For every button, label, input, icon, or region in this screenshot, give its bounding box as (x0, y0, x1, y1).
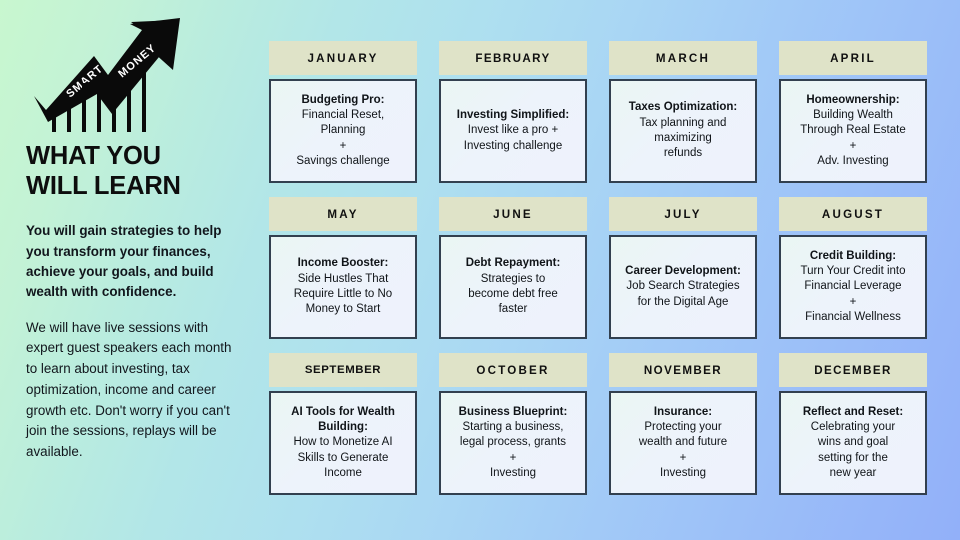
month-header-september: SEPTEMBER (269, 353, 417, 387)
month-card[interactable]: JULYCareer Development:Job Search Strate… (609, 197, 757, 339)
month-topic-plus: + (510, 452, 517, 464)
month-topic-line: Savings challenge (296, 155, 389, 167)
month-topic-line: Protecting your (644, 421, 721, 433)
month-topic-line: Planning (321, 124, 366, 136)
month-topic-line: wins and goal (818, 436, 888, 448)
month-topic-title: Reflect and Reset: (803, 406, 903, 418)
month-topic: Investing Simplified: Invest like a pro … (448, 108, 578, 154)
page-title-line-2: WILL LEARN (26, 172, 181, 200)
month-header-may: MAY (269, 197, 417, 231)
month-topic-line: Skills to Generate (298, 452, 389, 464)
month-topic-line: Financial Reset, (302, 109, 384, 121)
month-topic-title: Insurance: (654, 406, 712, 418)
month-header-february: FEBRUARY (439, 41, 587, 75)
month-topic-title: Income Booster: (298, 257, 389, 269)
month-topic-line: become debt free (468, 288, 558, 300)
month-topic-title: Taxes Optimization: (629, 101, 737, 113)
month-topic-title: Business Blueprint: (459, 406, 568, 418)
month-body: Debt Repayment:Strategies tobecome debt … (439, 235, 587, 339)
month-topic-line: Income (324, 467, 362, 479)
month-topic-title: Career Development: (625, 265, 741, 277)
month-body: Reflect and Reset:Celebrating yourwins a… (779, 391, 927, 495)
month-topic-line: Adv. Investing (817, 155, 888, 167)
month-topic-line: Invest like a pro + (468, 124, 558, 136)
month-topic-plus: + (850, 296, 857, 308)
month-topic-line: for the Digital Age (638, 296, 729, 308)
month-header-march: MARCH (609, 41, 757, 75)
month-header-december: DECEMBER (779, 353, 927, 387)
month-topic-line: Financial Leverage (804, 280, 901, 292)
month-header-august: AUGUST (779, 197, 927, 231)
month-card[interactable]: MAYIncome Booster:Side Hustles ThatRequi… (269, 197, 417, 339)
month-body: Business Blueprint:Starting a business,l… (439, 391, 587, 495)
month-topic-line: Strategies to (481, 273, 546, 285)
page-title: WHAT YOU WILL LEARN (26, 142, 256, 201)
month-topic: Debt Repayment:Strategies tobecome debt … (466, 256, 561, 317)
body-paragraph: We will have live sessions with expert g… (26, 318, 242, 463)
page-title-line-1: WHAT YOU (26, 142, 161, 170)
month-topic-line: legal process, grants (460, 436, 566, 448)
month-body: Homeownership:Building WealthThrough Rea… (779, 79, 927, 183)
month-card[interactable]: FEBRUARYInvesting Simplified: Invest lik… (439, 41, 587, 183)
month-topic-line: How to Monetize AI (293, 436, 392, 448)
month-topic-line: setting for the (818, 452, 888, 464)
smart-money-arrow-logo: SMART MONEY (30, 18, 190, 136)
month-topic-line: Side Hustles That (298, 273, 389, 285)
month-topic: Taxes Optimization:Tax planning andmaxim… (629, 100, 737, 161)
month-body: Credit Building:Turn Your Credit intoFin… (779, 235, 927, 339)
month-topic-title: Homeownership: (806, 94, 899, 106)
month-topic-line: Financial Wellness (805, 311, 901, 323)
month-header-october: OCTOBER (439, 353, 587, 387)
month-topic-line: Turn Your Credit into (800, 265, 905, 277)
month-card[interactable]: APRILHomeownership:Building WealthThroug… (779, 41, 927, 183)
month-topic-plus: + (680, 452, 687, 464)
month-topic: Income Booster:Side Hustles ThatRequire … (294, 256, 392, 317)
month-topic-line: Building Wealth (813, 109, 893, 121)
month-body: Career Development:Job Search Strategies… (609, 235, 757, 339)
month-topic-line: Require Little to No (294, 288, 392, 300)
month-topic-line: maximizing (654, 132, 712, 144)
month-topic: Insurance:Protecting yourwealth and futu… (639, 405, 727, 481)
month-topic: Budgeting Pro:Financial Reset,Planning+S… (296, 93, 389, 169)
lead-paragraph: You will gain strategies to help you tra… (26, 221, 238, 303)
month-topic-title: Debt Repayment: (466, 257, 561, 269)
month-topic-title: Investing Simplified: (457, 109, 569, 121)
month-card[interactable]: JANUARYBudgeting Pro:Financial Reset,Pla… (269, 41, 417, 183)
month-topic-line: wealth and future (639, 436, 727, 448)
month-body: Income Booster:Side Hustles ThatRequire … (269, 235, 417, 339)
month-topic-title: Budgeting Pro: (301, 94, 384, 106)
month-topic-line: new year (830, 467, 877, 479)
month-card[interactable]: DECEMBERReflect and Reset:Celebrating yo… (779, 353, 927, 495)
month-header-july: JULY (609, 197, 757, 231)
month-topic: Reflect and Reset:Celebrating yourwins a… (803, 405, 903, 481)
intro-panel: SMART MONEY WHAT YOU WILL LEARN You will… (26, 18, 256, 518)
month-card[interactable]: OCTOBERBusiness Blueprint:Starting a bus… (439, 353, 587, 495)
month-topic-line: Investing challenge (464, 140, 562, 152)
month-topic: AI Tools for Wealth Building:How to Mone… (278, 405, 408, 481)
month-card[interactable]: AUGUSTCredit Building:Turn Your Credit i… (779, 197, 927, 339)
month-body: Investing Simplified: Invest like a pro … (439, 79, 587, 183)
month-card[interactable]: JUNEDebt Repayment:Strategies tobecome d… (439, 197, 587, 339)
month-topic-line: Celebrating your (811, 421, 895, 433)
month-body: Taxes Optimization:Tax planning andmaxim… (609, 79, 757, 183)
month-topic-line: faster (499, 303, 528, 315)
month-topic-title: AI Tools for Wealth Building: (291, 406, 395, 433)
month-body: Insurance:Protecting yourwealth and futu… (609, 391, 757, 495)
upward-zigzag-arrow-with-bars-icon: SMART MONEY (30, 18, 190, 136)
month-topic-plus: + (340, 140, 347, 152)
month-topic-line: refunds (664, 147, 702, 159)
month-body: AI Tools for Wealth Building:How to Mone… (269, 391, 417, 495)
month-topic-line: Tax planning and (640, 117, 727, 129)
month-topic: Career Development:Job Search Strategies… (625, 264, 741, 310)
month-card[interactable]: SEPTEMBERAI Tools for Wealth Building:Ho… (269, 353, 417, 495)
monthly-curriculum-grid: JANUARYBudgeting Pro:Financial Reset,Pla… (269, 41, 926, 495)
month-card[interactable]: NOVEMBERInsurance:Protecting yourwealth … (609, 353, 757, 495)
month-header-november: NOVEMBER (609, 353, 757, 387)
month-header-june: JUNE (439, 197, 587, 231)
month-topic-line: Job Search Strategies (626, 280, 739, 292)
month-topic: Homeownership:Building WealthThrough Rea… (800, 93, 905, 169)
month-body: Budgeting Pro:Financial Reset,Planning+S… (269, 79, 417, 183)
month-topic-line: Starting a business, (462, 421, 563, 433)
month-topic: Credit Building:Turn Your Credit intoFin… (800, 249, 905, 325)
month-topic-line: Investing (490, 467, 536, 479)
month-card[interactable]: MARCHTaxes Optimization:Tax planning and… (609, 41, 757, 183)
month-header-january: JANUARY (269, 41, 417, 75)
month-topic-line: Through Real Estate (800, 124, 905, 136)
month-topic-line: Investing (660, 467, 706, 479)
month-topic-line: Money to Start (306, 303, 381, 315)
month-topic: Business Blueprint:Starting a business,l… (459, 405, 568, 481)
month-topic-title: Credit Building: (810, 250, 896, 262)
month-header-april: APRIL (779, 41, 927, 75)
month-topic-plus: + (850, 140, 857, 152)
